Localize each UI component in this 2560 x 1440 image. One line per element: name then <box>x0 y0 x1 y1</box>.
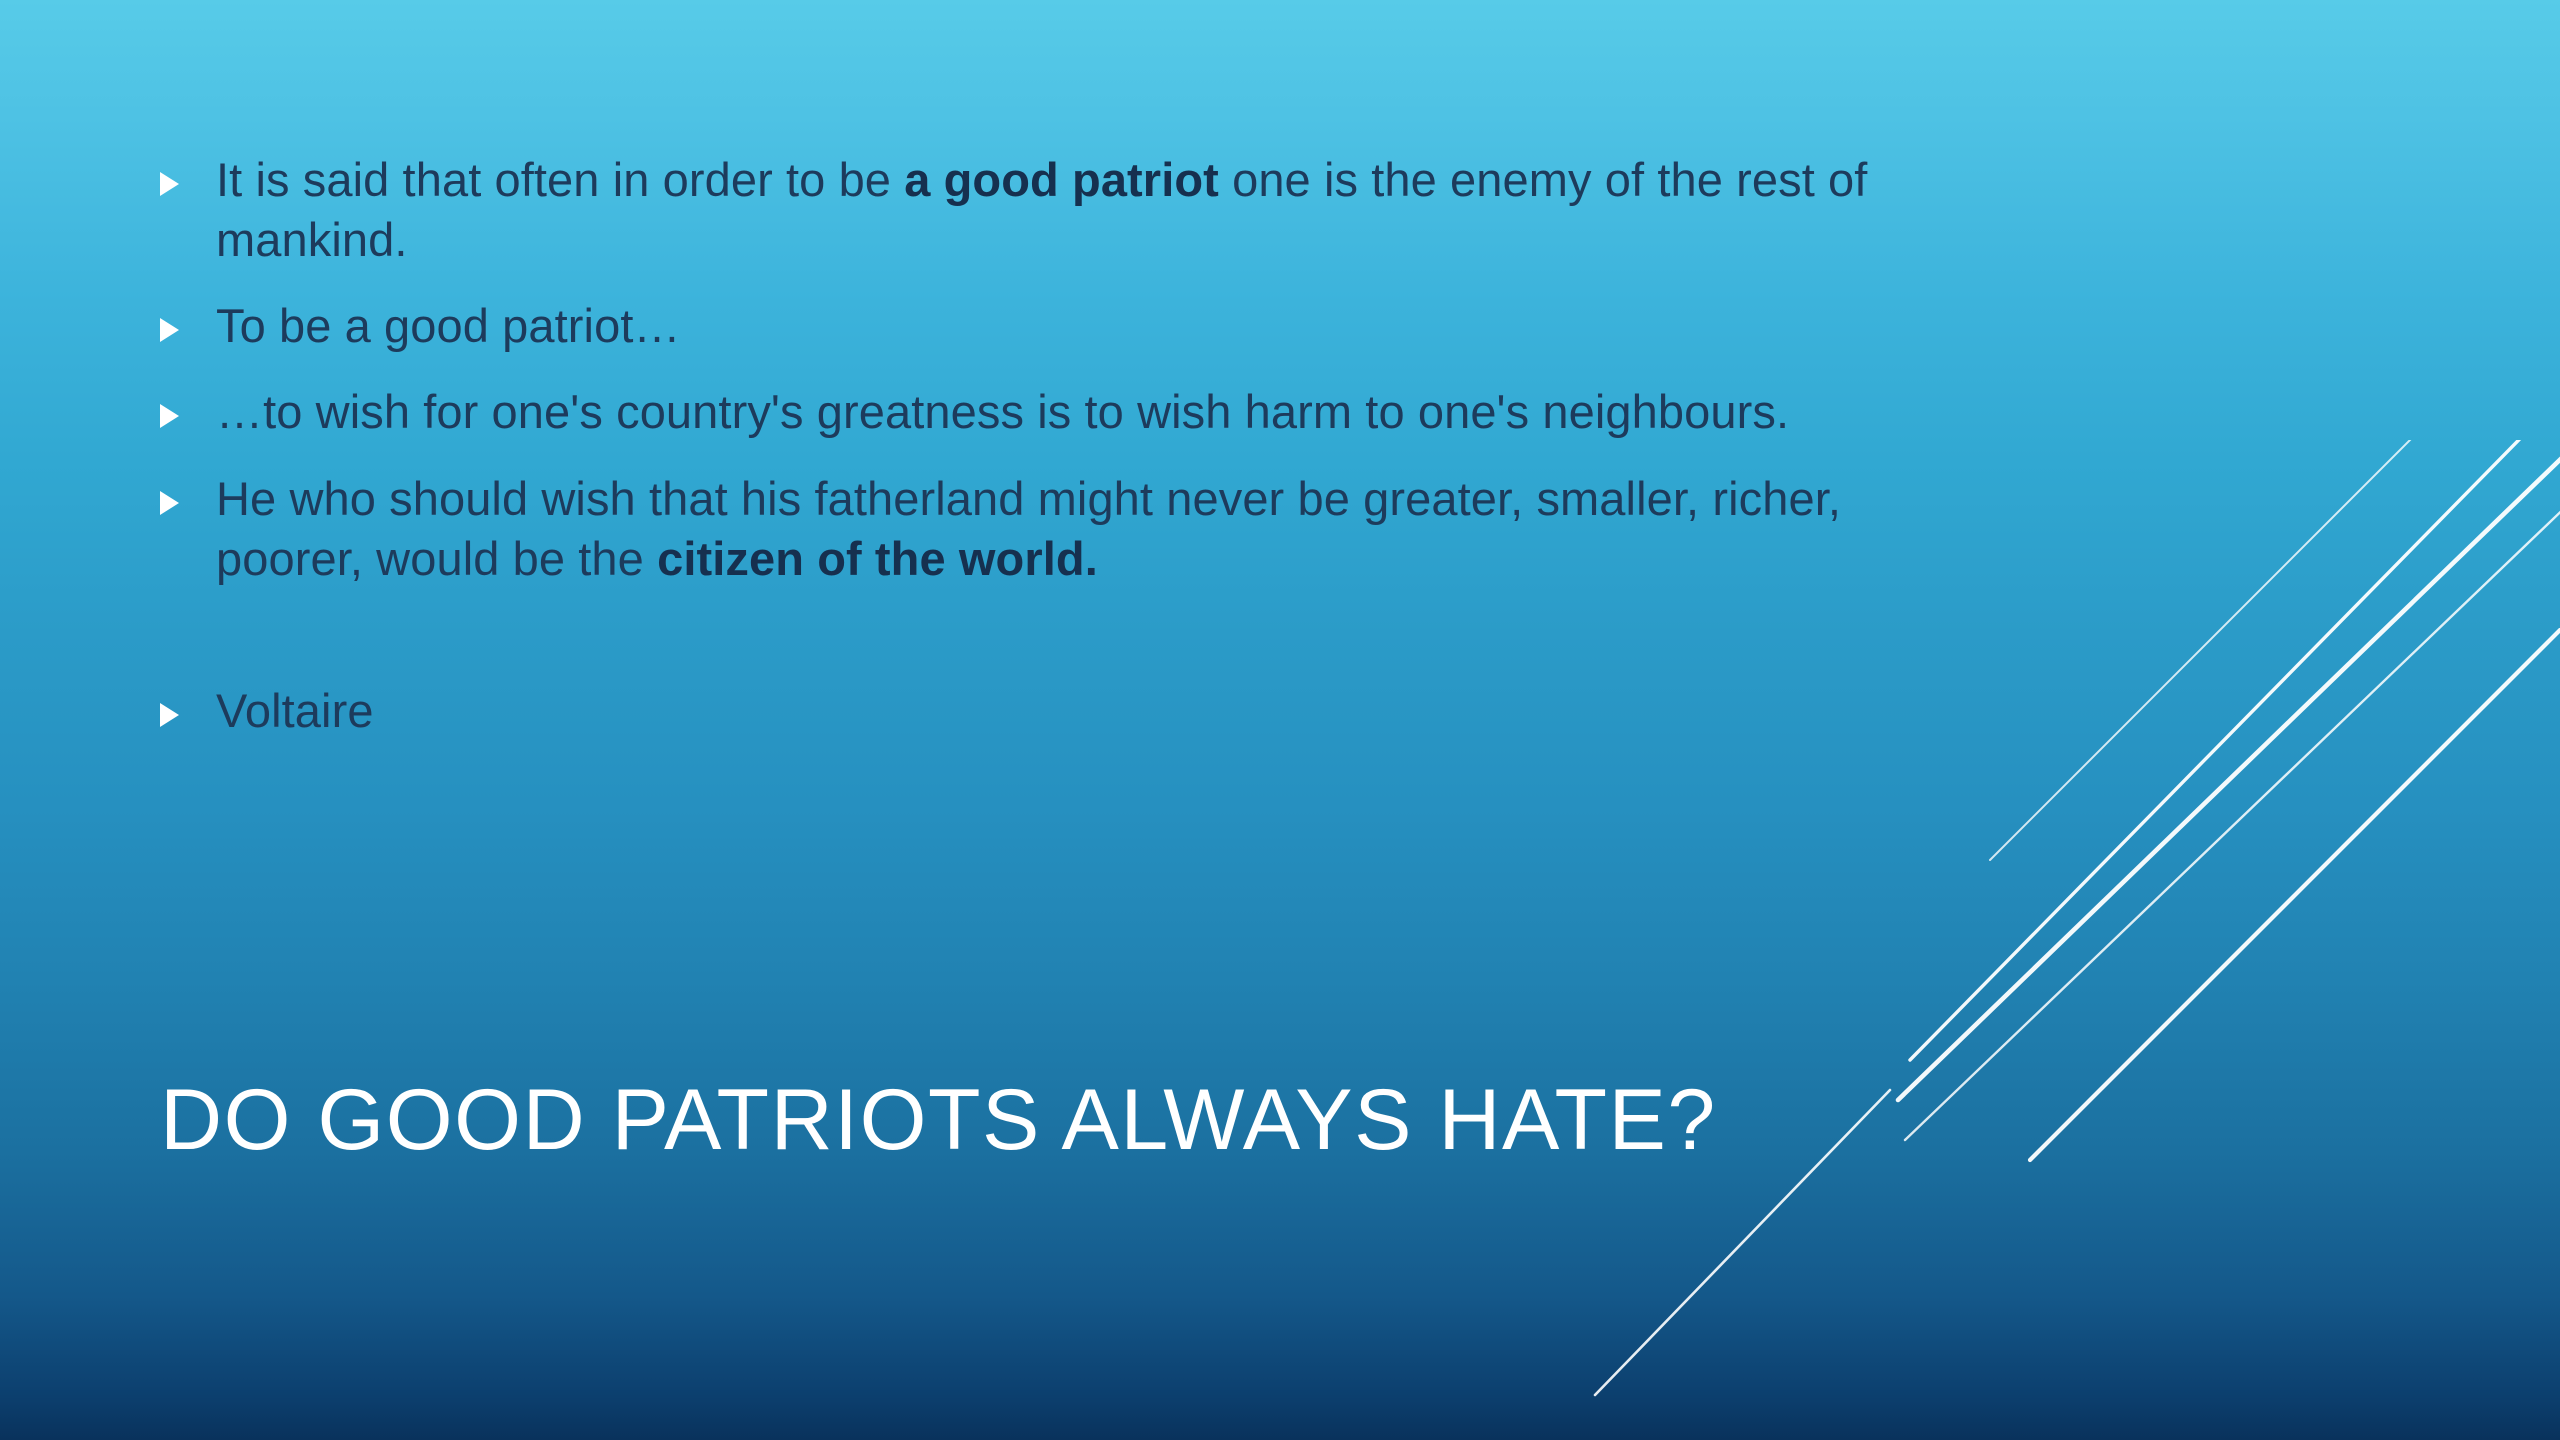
triangle-bullet-icon <box>160 150 216 196</box>
triangle-bullet-icon <box>160 681 216 727</box>
list-item: To be a good patriot… <box>160 296 1960 356</box>
streak-line-1 <box>1910 440 2558 1060</box>
list-item: He who should wish that his fatherland m… <box>160 469 1960 589</box>
streak-line-3 <box>1905 498 2560 1140</box>
bullet-1-segment-2-bold: a good patriot <box>904 153 1219 206</box>
page-title: Do Good Patriots Always Hate? <box>160 1075 2060 1165</box>
streak-line-5 <box>2030 630 2560 1160</box>
bullet-text-4: He who should wish that his fatherland m… <box>216 469 1946 589</box>
list-item-attribution: Voltaire <box>160 681 1960 741</box>
bullet-1-segment-1: It is said that often in order to be <box>216 153 904 206</box>
bullet-text-2: To be a good patriot… <box>216 296 1946 356</box>
list-item: It is said that often in order to be a g… <box>160 150 1960 270</box>
attribution-text: Voltaire <box>216 681 1946 741</box>
list-item: …to wish for one's country's greatness i… <box>160 382 1960 442</box>
triangle-bullet-icon <box>160 382 216 428</box>
bullet-list: It is said that often in order to be a g… <box>160 150 1960 767</box>
bullet-2-segment-1: To be a good patriot… <box>216 299 681 352</box>
streak-line-4 <box>1990 440 2440 860</box>
streak-line-2 <box>1898 450 2560 1100</box>
bullet-text-1: It is said that often in order to be a g… <box>216 150 1946 270</box>
triangle-bullet-icon <box>160 469 216 515</box>
bullet-3-segment-1: …to wish for one's country's greatness i… <box>216 385 1789 438</box>
presentation-slide: It is said that often in order to be a g… <box>0 0 2560 1440</box>
bullet-text-3: …to wish for one's country's greatness i… <box>216 382 1946 442</box>
triangle-bullet-icon <box>160 296 216 342</box>
bullet-4-segment-2-bold: citizen of the world. <box>657 532 1098 585</box>
